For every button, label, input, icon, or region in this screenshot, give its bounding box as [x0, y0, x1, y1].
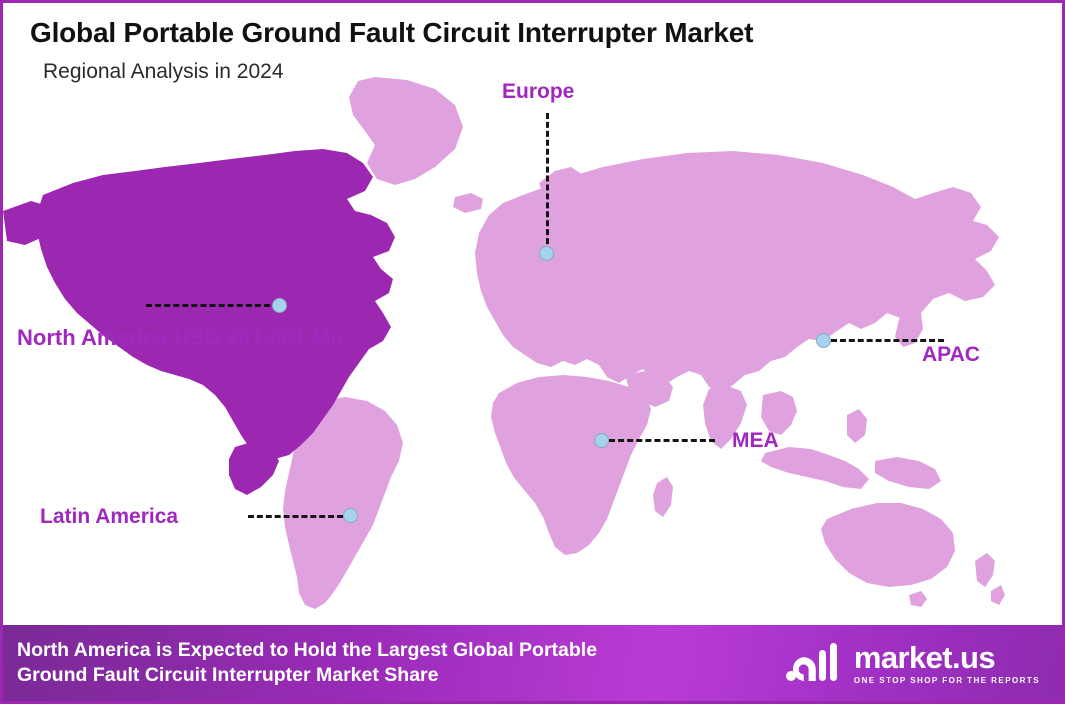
- market-us-logo[interactable]: market.us ONE STOP SHOP FOR THE REPORTS: [784, 640, 1062, 686]
- logo-name: market.us: [854, 642, 1040, 673]
- logo-wordmark: market.us ONE STOP SHOP FOR THE REPORTS: [854, 642, 1040, 685]
- region-label-mea: MEA: [732, 428, 779, 454]
- page-title: Global Portable Ground Fault Circuit Int…: [30, 17, 753, 49]
- bar-chart-logo-icon: [784, 640, 844, 686]
- world-map: [3, 75, 1062, 630]
- region-label-apac: APAC: [922, 342, 980, 368]
- map-marker-latin-america[interactable]: [343, 508, 358, 523]
- banner-headline-line2: Ground Fault Circuit Interrupter Market …: [17, 663, 597, 688]
- banner-headline-line1: North America is Expected to Hold the La…: [17, 638, 597, 663]
- region-label-latin-america: Latin America: [40, 504, 178, 530]
- map-marker-mea[interactable]: [594, 433, 609, 448]
- region-label-north-america-name: North America: [17, 325, 168, 350]
- leader-line-north-america: [146, 304, 270, 307]
- world-map-svg: [3, 75, 1062, 630]
- region-label-europe: Europe: [502, 79, 574, 105]
- logo-tagline: ONE STOP SHOP FOR THE REPORTS: [854, 677, 1040, 685]
- banner-headline: North America is Expected to Hold the La…: [3, 638, 597, 688]
- leader-line-europe: [546, 113, 549, 253]
- map-marker-north-america[interactable]: [272, 298, 287, 313]
- infographic-canvas: Global Portable Ground Fault Circuit Int…: [0, 0, 1065, 704]
- map-marker-apac[interactable]: [816, 333, 831, 348]
- region-label-north-america: North America USD 201.601 Mn: [17, 324, 344, 352]
- map-marker-europe[interactable]: [539, 246, 554, 261]
- leader-line-latin-america: [248, 515, 343, 518]
- bottom-banner: North America is Expected to Hold the La…: [3, 625, 1062, 701]
- region-value-north-america: USD 201.601 Mn: [174, 325, 344, 350]
- leader-line-mea: [609, 439, 715, 442]
